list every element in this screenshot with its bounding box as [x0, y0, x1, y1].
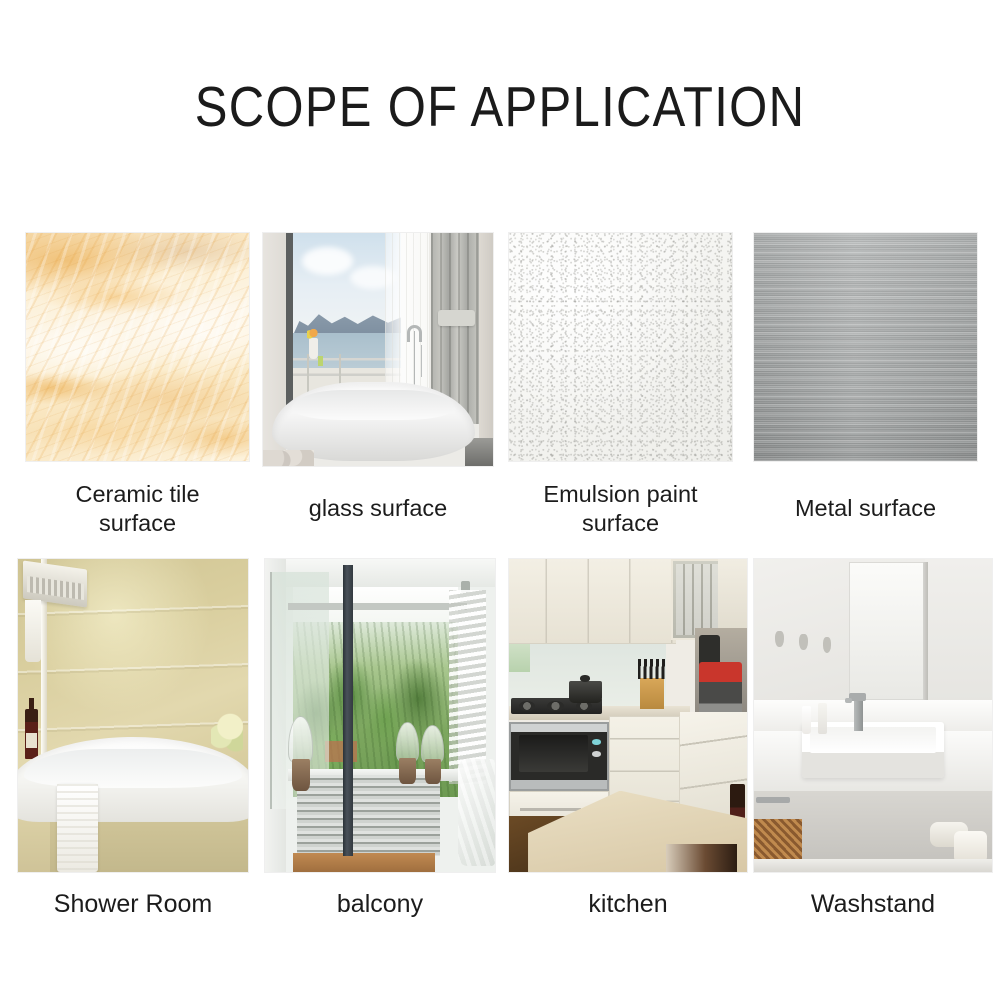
oven-knob	[592, 739, 602, 745]
hanging-towel	[25, 600, 41, 663]
hanging-glass-lamp	[396, 722, 419, 785]
rolled-towel	[954, 831, 987, 862]
grid-cell-washstand[interactable]: Washstand	[753, 558, 993, 873]
soap-dispenser	[802, 706, 812, 734]
upper-cabinets	[509, 559, 676, 644]
vase	[309, 338, 318, 359]
planter-pot	[425, 759, 442, 784]
kitchen-image	[508, 558, 748, 873]
radiator	[297, 775, 440, 856]
flowers	[307, 326, 320, 340]
window-frame	[286, 233, 293, 405]
mirror	[849, 562, 925, 700]
basin-interior	[810, 727, 936, 753]
cloud	[302, 247, 353, 275]
basin-faucet	[854, 700, 864, 731]
oven-glass-door	[519, 735, 588, 771]
caption-metal: Metal surface	[736, 494, 996, 523]
caption-washstand: Washstand	[743, 890, 1000, 919]
curtain-rail	[288, 603, 467, 610]
metal-surface-image	[753, 232, 978, 462]
hanging-glass-lamp	[421, 725, 444, 784]
upper-cabinet-right	[718, 559, 747, 628]
bathtub	[17, 737, 249, 822]
cooking-pot	[569, 681, 602, 703]
draped-towel	[57, 784, 98, 872]
stand-mixer	[699, 662, 742, 715]
caption-balcony: balcony	[250, 890, 510, 919]
wall-oven	[509, 722, 609, 791]
grid-cell-shower-room[interactable]: Shower Room	[17, 558, 249, 873]
grid-cell-emulsion-paint[interactable]: Emulsion paint surface	[508, 232, 733, 462]
faucet-handshower	[421, 345, 422, 378]
grid-cell-glass[interactable]: glass surface	[262, 232, 494, 467]
caption-glass: glass surface	[248, 494, 508, 523]
hanging-glass-lamp	[288, 716, 313, 791]
grid-cell-kitchen[interactable]: kitchen	[508, 558, 748, 873]
application-room-row: Shower Room	[0, 558, 1000, 928]
wall-right	[925, 559, 992, 703]
washstand-image	[753, 558, 993, 873]
shower-room-image	[17, 558, 249, 873]
emulsion-paint-image	[508, 232, 733, 462]
planter-pot	[292, 759, 310, 791]
caption-shower-room: Shower Room	[3, 890, 263, 919]
mirror-edge	[923, 562, 928, 700]
page-title: SCOPE OF APPLICATION	[70, 76, 930, 138]
grid-cell-balcony[interactable]: balcony	[264, 558, 496, 873]
planter-pot	[399, 758, 416, 784]
bathtub-interior	[292, 390, 454, 420]
bathtub-interior	[24, 749, 243, 788]
caption-kitchen: kitchen	[498, 890, 758, 919]
wall-hook	[799, 634, 807, 650]
glass-bell	[421, 725, 444, 762]
caption-emulsion-paint: Emulsion paint surface	[491, 480, 751, 538]
structural-post	[343, 565, 353, 856]
clear-chairs	[458, 759, 495, 865]
wall-right	[479, 233, 493, 466]
ceramic-tile-image	[25, 232, 250, 462]
oven-knob	[592, 751, 602, 757]
burner	[547, 701, 564, 712]
knife-block	[640, 678, 664, 709]
flower-arrangement	[211, 709, 243, 753]
window	[509, 644, 530, 672]
caption-ceramic-tile: Ceramic tile surface	[8, 480, 268, 538]
pebble-floor	[263, 450, 314, 466]
curtain-tieback	[438, 310, 475, 326]
balcony-image	[264, 558, 496, 873]
toiletry-bottle	[818, 703, 826, 734]
grid-cell-metal[interactable]: Metal surface	[753, 232, 978, 462]
venetian-blind	[449, 590, 486, 784]
glass-surface-image	[262, 232, 494, 467]
glass-bell	[396, 722, 419, 761]
wine-bottle	[25, 709, 38, 759]
green-accent	[318, 356, 323, 365]
open-magazine	[666, 844, 737, 872]
glass-bell	[288, 716, 313, 763]
bottom-ledge	[754, 859, 992, 872]
grid-cell-ceramic-tile[interactable]: Ceramic tile surface	[25, 232, 250, 462]
wall-hook	[775, 631, 783, 647]
surface-type-row: Ceramic tile surface	[0, 232, 1000, 532]
towel-bar	[756, 797, 789, 803]
wood-floor	[293, 853, 436, 872]
